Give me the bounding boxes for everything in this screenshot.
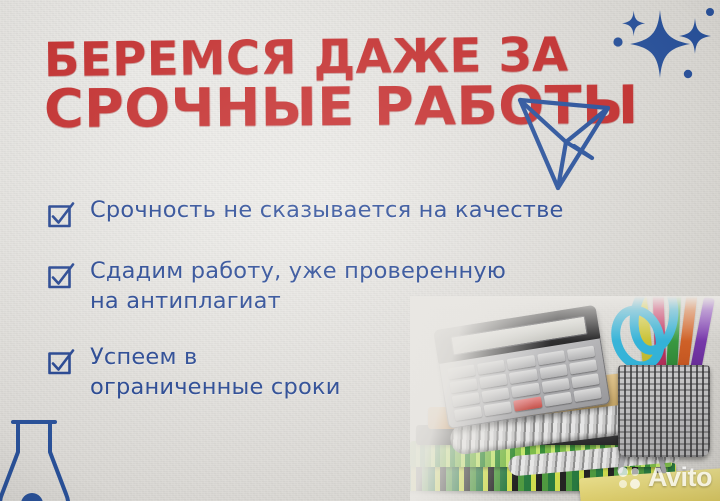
list-item: Срочность не сказывается на качестве	[46, 196, 686, 231]
avito-logo-icon	[616, 465, 642, 491]
list-item-line-1: Сдадим работу, уже проверенную	[90, 258, 506, 284]
checkbox-checked-icon[interactable]	[46, 201, 76, 231]
list-item-text: Успеем в ограниченные сроки	[90, 343, 341, 403]
checkbox-checked-icon[interactable]	[46, 348, 76, 378]
list-item-line-1: Успеем в	[90, 344, 197, 370]
avito-watermark: Avito	[616, 462, 712, 493]
headline: БЕРЕМСЯ ДАЖЕ ЗА СРОЧНЫЕ РАБОТЫ	[44, 38, 564, 136]
promo-poster: БЕРЕМСЯ ДАЖЕ ЗА СРОЧНЫЕ РАБОТЫ	[0, 0, 720, 501]
avito-watermark-text: Avito	[648, 462, 712, 493]
list-item-text: Срочность не сказывается на качестве	[90, 196, 564, 226]
list-item-line-1: Срочность не сказывается на качестве	[90, 197, 564, 223]
headline-line-2: СРОЧНЫЕ РАБОТЫ	[44, 81, 575, 136]
checkbox-checked-icon[interactable]	[46, 262, 76, 292]
list-item-line-2: ограниченные сроки	[90, 373, 341, 403]
pen-cup	[618, 365, 710, 457]
